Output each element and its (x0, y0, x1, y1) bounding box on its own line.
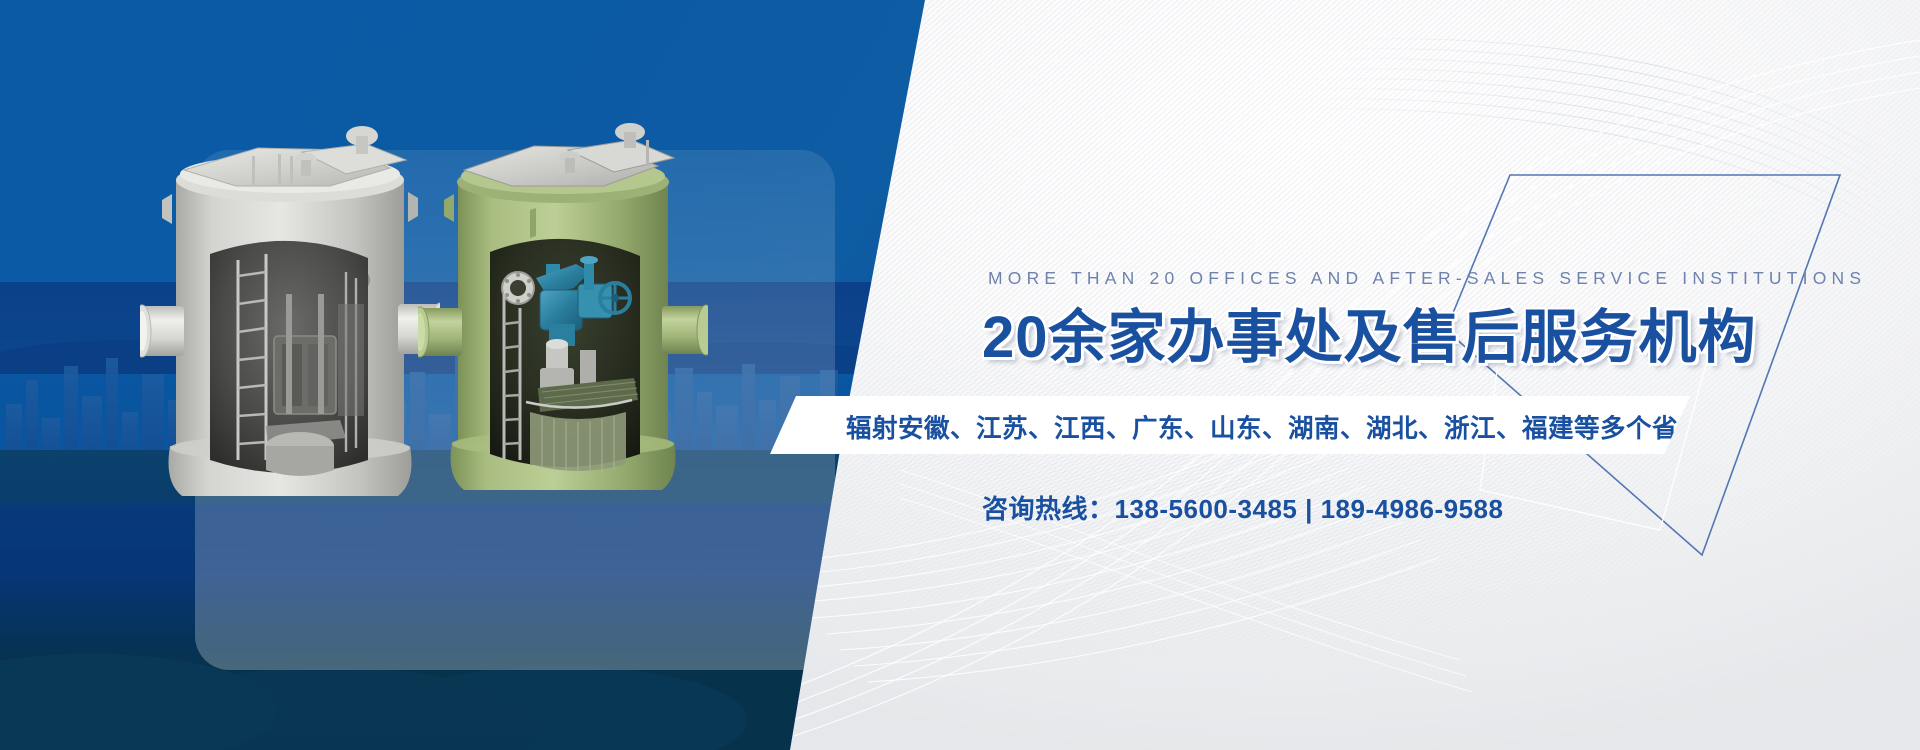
gray-cutaway-pump-station-tank (140, 108, 440, 520)
eyebrow-text: MORE THAN 20 OFFICES AND AFTER-SALES SER… (988, 268, 1866, 289)
hotline-text: 咨询热线：138-5600-3485 | 189-4986-9588 (982, 489, 1503, 526)
promo-banner: MORE THAN 20 OFFICES AND AFTER-SALES SER… (0, 0, 1920, 750)
page-title: 20余家办事处及售后服务机构 (982, 302, 1757, 374)
green-cutaway-pump-station-tank (418, 112, 708, 512)
coverage-bar: 辐射安徽、江苏、江西、广东、山东、湖南、湖北、浙江、福建等多个省份 (770, 396, 1690, 454)
coverage-text: 辐射安徽、江苏、江西、广东、山东、湖南、湖北、浙江、福建等多个省份 (846, 408, 1704, 445)
